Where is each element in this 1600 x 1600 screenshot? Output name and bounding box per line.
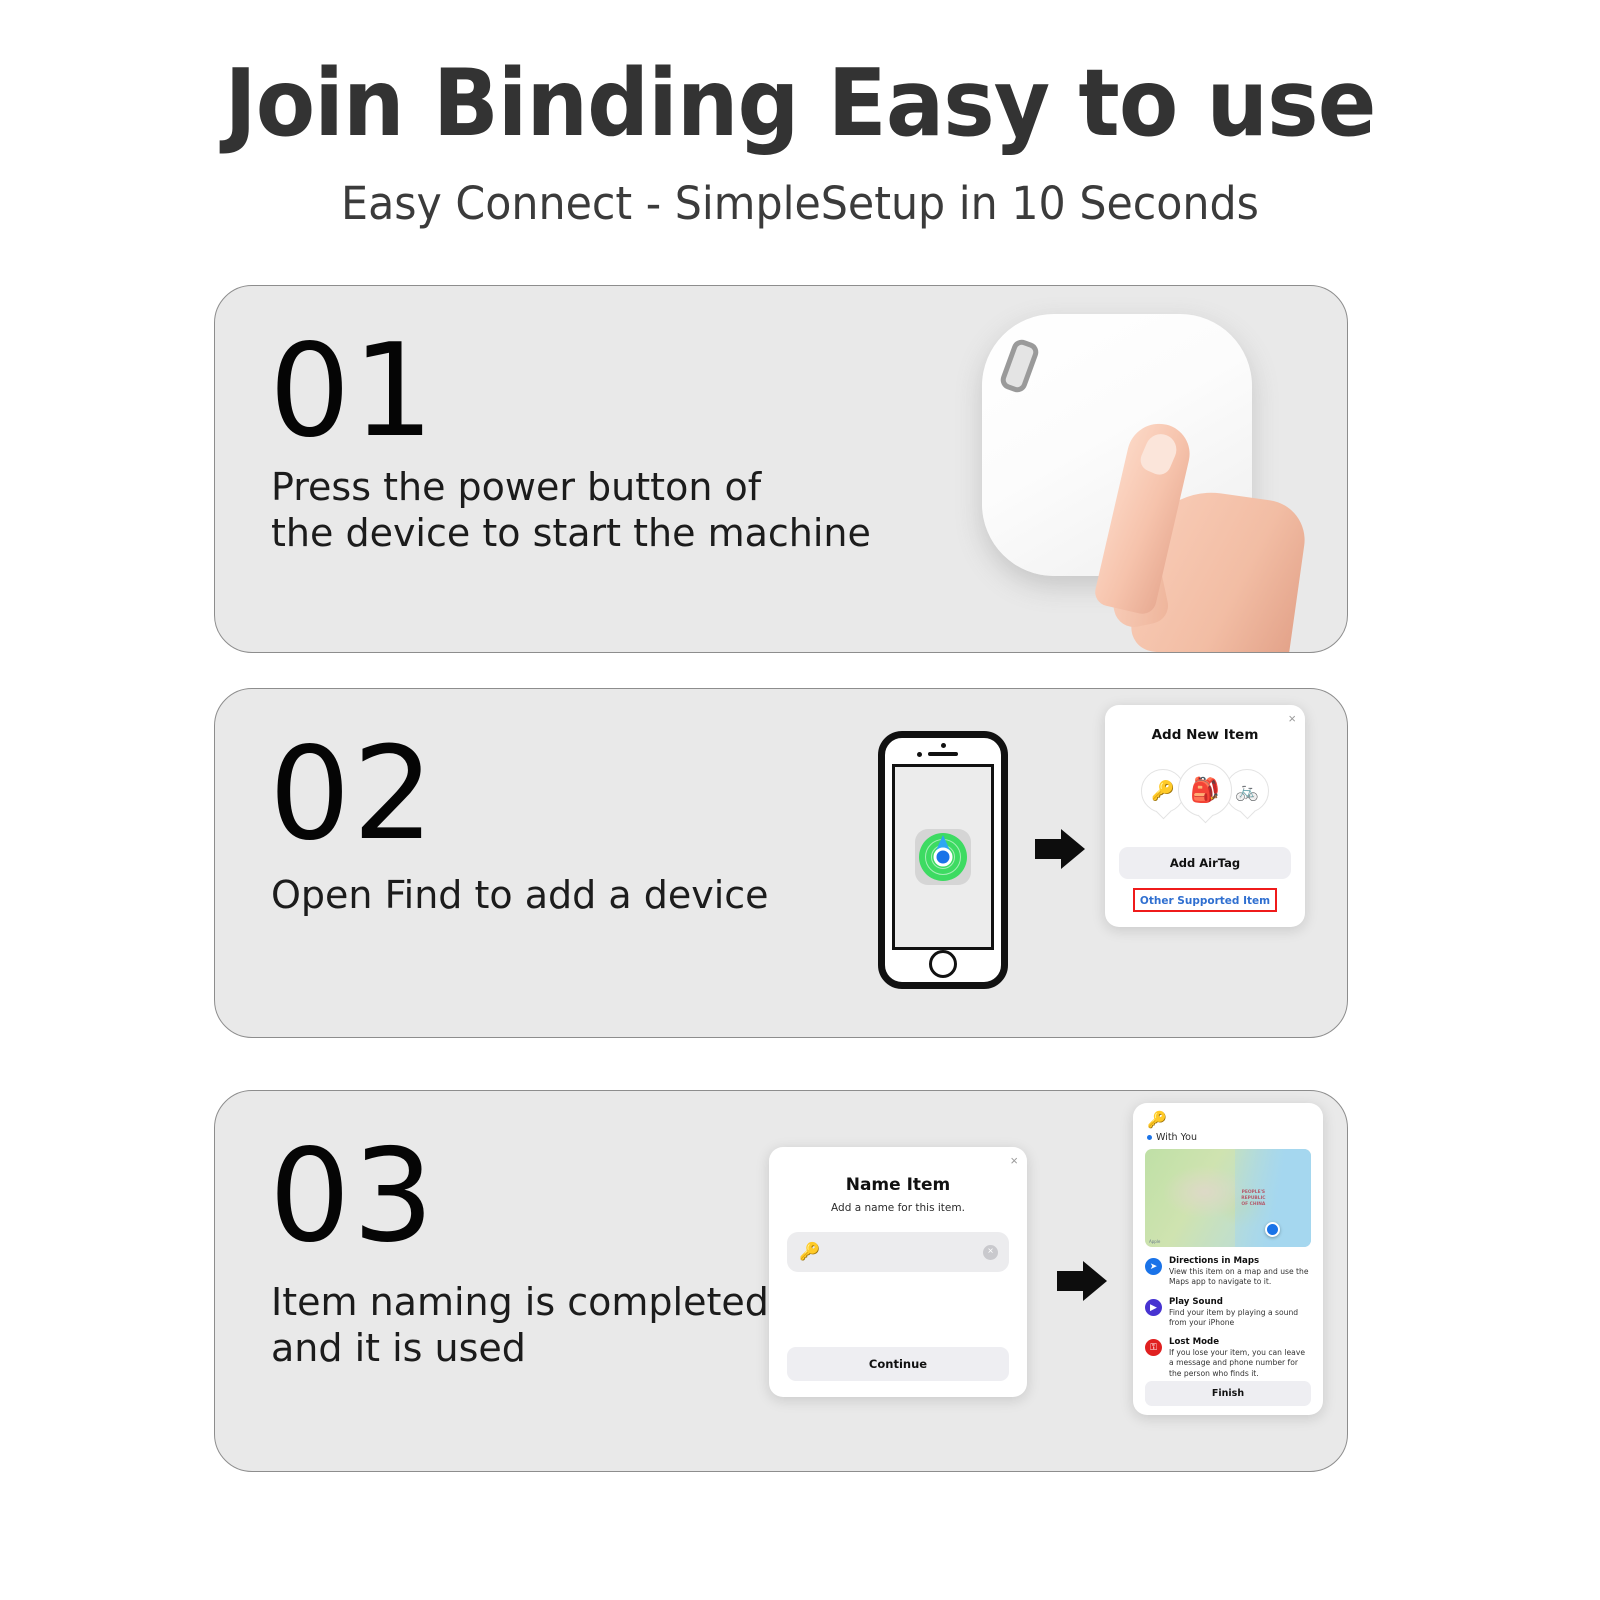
step-03-illustration: × Name Item Add a name for this item. 🔑 … — [755, 1091, 1348, 1472]
feature-description: View this item on a map and use the Maps… — [1169, 1267, 1311, 1288]
step-number-02: 02 — [269, 731, 436, 859]
tracker-illustration — [927, 286, 1347, 653]
hand-illustration — [1103, 422, 1293, 653]
status-badge: With You — [1147, 1132, 1323, 1143]
step-card-03: 03 Item naming is completed and it is us… — [214, 1090, 1348, 1472]
feature-title: Play Sound — [1169, 1297, 1311, 1307]
dialog-title: Name Item — [769, 1175, 1027, 1195]
add-airtag-button[interactable]: Add AirTag — [1119, 847, 1291, 879]
map-country-label: PEOPLE'S REPUBLIC OF CHINA — [1241, 1190, 1265, 1208]
page-title: Join Binding Easy to use — [56, 55, 1544, 153]
step-card-02: 02 Open Find to add a device × A — [214, 688, 1348, 1038]
item-detail-panel: 🔑 With You PEOPLE'S REPUBLIC OF CHINA Ap… — [1133, 1103, 1323, 1415]
dialog-subtitle: Add a name for this item. — [769, 1202, 1027, 1214]
map-attribution: Apple — [1149, 1239, 1160, 1244]
find-my-icon[interactable] — [915, 829, 971, 885]
close-icon[interactable]: × — [1288, 712, 1296, 725]
directions-icon: ➤ — [1145, 1258, 1162, 1275]
phone-screen — [892, 764, 994, 950]
step-description-02: Open Find to add a device — [271, 872, 769, 918]
feature-title: Lost Mode — [1169, 1337, 1311, 1347]
phone-sensor-icon — [917, 752, 922, 757]
key-emoji-icon: 🔑 — [799, 1242, 820, 1262]
continue-button[interactable]: Continue — [787, 1347, 1009, 1381]
feature-description: Find your item by playing a sound from y… — [1169, 1308, 1311, 1329]
dialog-title: Add New Item — [1105, 727, 1305, 743]
page-header: Join Binding Easy to use Easy Connect - … — [0, 55, 1600, 230]
key-emoji-icon: 🔑 — [1147, 1113, 1323, 1129]
iphone-mockup — [878, 731, 1008, 989]
lost-mode-icon: ⚿ — [1145, 1339, 1162, 1356]
add-new-item-dialog: × Add New Item 🔑 🎒 🚲 Add AirTag Other Su… — [1105, 705, 1305, 927]
other-supported-item-link[interactable]: Other Supported Item — [1140, 895, 1270, 907]
play-sound-icon: ▶ — [1145, 1299, 1162, 1316]
backpack-emoji-icon: 🎒 — [1178, 763, 1232, 817]
phone-speaker-icon — [928, 752, 958, 756]
flow-arrow-icon — [1035, 829, 1085, 869]
step-02-illustration: × Add New Item 🔑 🎒 🚲 Add AirTag Other Su… — [855, 689, 1348, 1038]
step-description-01: Press the power button of the device to … — [271, 464, 871, 557]
feature-title: Directions in Maps — [1169, 1256, 1311, 1266]
step-number-01: 01 — [269, 328, 436, 456]
close-icon[interactable]: × — [1010, 1154, 1018, 1167]
step-number-03: 03 — [269, 1133, 436, 1261]
step-card-01: 01 Press the power button of the device … — [214, 285, 1348, 653]
feature-row-lost-mode[interactable]: ⚿ Lost Mode If you lose your item, you c… — [1145, 1337, 1311, 1379]
name-item-dialog: × Name Item Add a name for this item. 🔑 … — [769, 1147, 1027, 1397]
other-supported-item-row: Other Supported Item — [1119, 888, 1291, 912]
radar-center-dot — [934, 848, 953, 867]
finger-nail-shape — [1137, 429, 1181, 478]
status-label: With You — [1156, 1132, 1197, 1143]
feature-row-play-sound[interactable]: ▶ Play Sound Find your item by playing a… — [1145, 1297, 1311, 1329]
item-type-bubbles: 🔑 🎒 🚲 — [1105, 765, 1305, 817]
home-button-icon[interactable] — [929, 950, 957, 978]
red-highlight-box: Other Supported Item — [1133, 888, 1277, 912]
finish-button[interactable]: Finish — [1145, 1381, 1311, 1406]
clear-input-icon[interactable]: × — [983, 1245, 998, 1260]
map-preview[interactable]: PEOPLE'S REPUBLIC OF CHINA Apple — [1145, 1149, 1311, 1247]
item-name-input[interactable]: 🔑 × — [787, 1232, 1009, 1272]
step-description-03: Item naming is completed and it is used — [271, 1279, 769, 1372]
feature-description: If you lose your item, you can leave a m… — [1169, 1348, 1311, 1379]
keyring-hole-icon — [998, 337, 1041, 395]
item-location-pin — [1265, 1222, 1280, 1237]
feature-row-directions[interactable]: ➤ Directions in Maps View this item on a… — [1145, 1256, 1311, 1288]
flow-arrow-icon — [1057, 1261, 1107, 1301]
phone-camera-icon — [941, 743, 946, 748]
page-subtitle: Easy Connect - SimpleSetup in 10 Seconds — [40, 177, 1560, 230]
status-dot-icon — [1147, 1135, 1152, 1140]
